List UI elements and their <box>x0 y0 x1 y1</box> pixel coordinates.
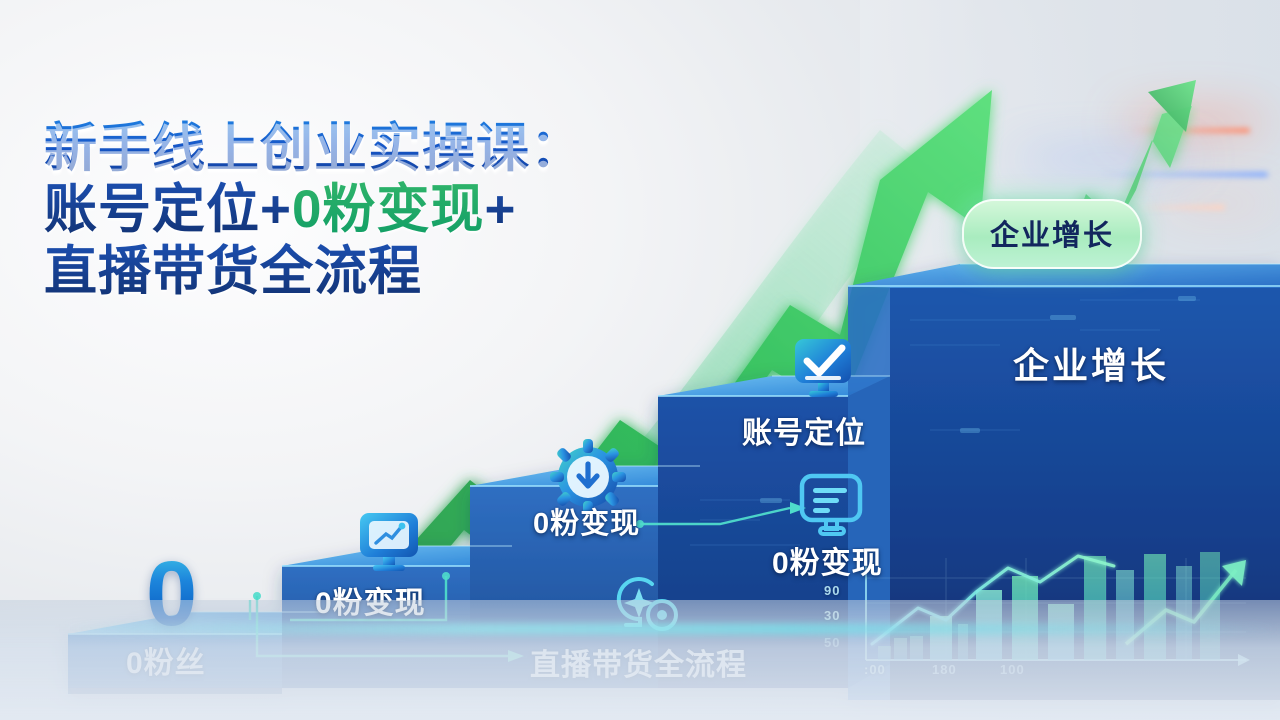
enterprise-growth-badge: 企业增长 <box>962 199 1142 269</box>
poster-canvas: 90 30 50 :00 180 100 <box>0 0 1280 720</box>
title-line-2: 账号定位+0粉变现+ <box>44 179 744 240</box>
step-label-account-positioning: 账号定位 <box>742 408 866 452</box>
monitor-growth-icon <box>352 505 426 579</box>
title-seg-3: 直播带货全流程 <box>44 242 422 301</box>
floor-surface <box>0 600 1280 720</box>
title-line-1: 新手线上创业实操课： <box>44 118 744 179</box>
step-label-0-fan-monetize-c: 0粉变现 <box>772 538 883 582</box>
page-title: 新手线上创业实操课： 账号定位+0粉变现+ 直播带货全流程 <box>44 118 744 302</box>
title-seg-2a: 账号定位+ <box>44 180 292 239</box>
monitor-check-icon <box>788 334 860 406</box>
title-seg-2c: + <box>484 180 516 239</box>
title-seg-2b: 0粉变现 <box>292 180 484 239</box>
title-seg-1: 新手线上创业实操课： <box>44 119 584 178</box>
document-screen-icon <box>796 470 868 546</box>
step-label-0-fan-monetize-b: 0粉变现 <box>533 500 640 542</box>
title-line-3: 直播带货全流程 <box>44 241 744 302</box>
step-label-enterprise-growth: 企业增长 <box>1013 337 1169 389</box>
floor-glow-line <box>60 624 1280 634</box>
